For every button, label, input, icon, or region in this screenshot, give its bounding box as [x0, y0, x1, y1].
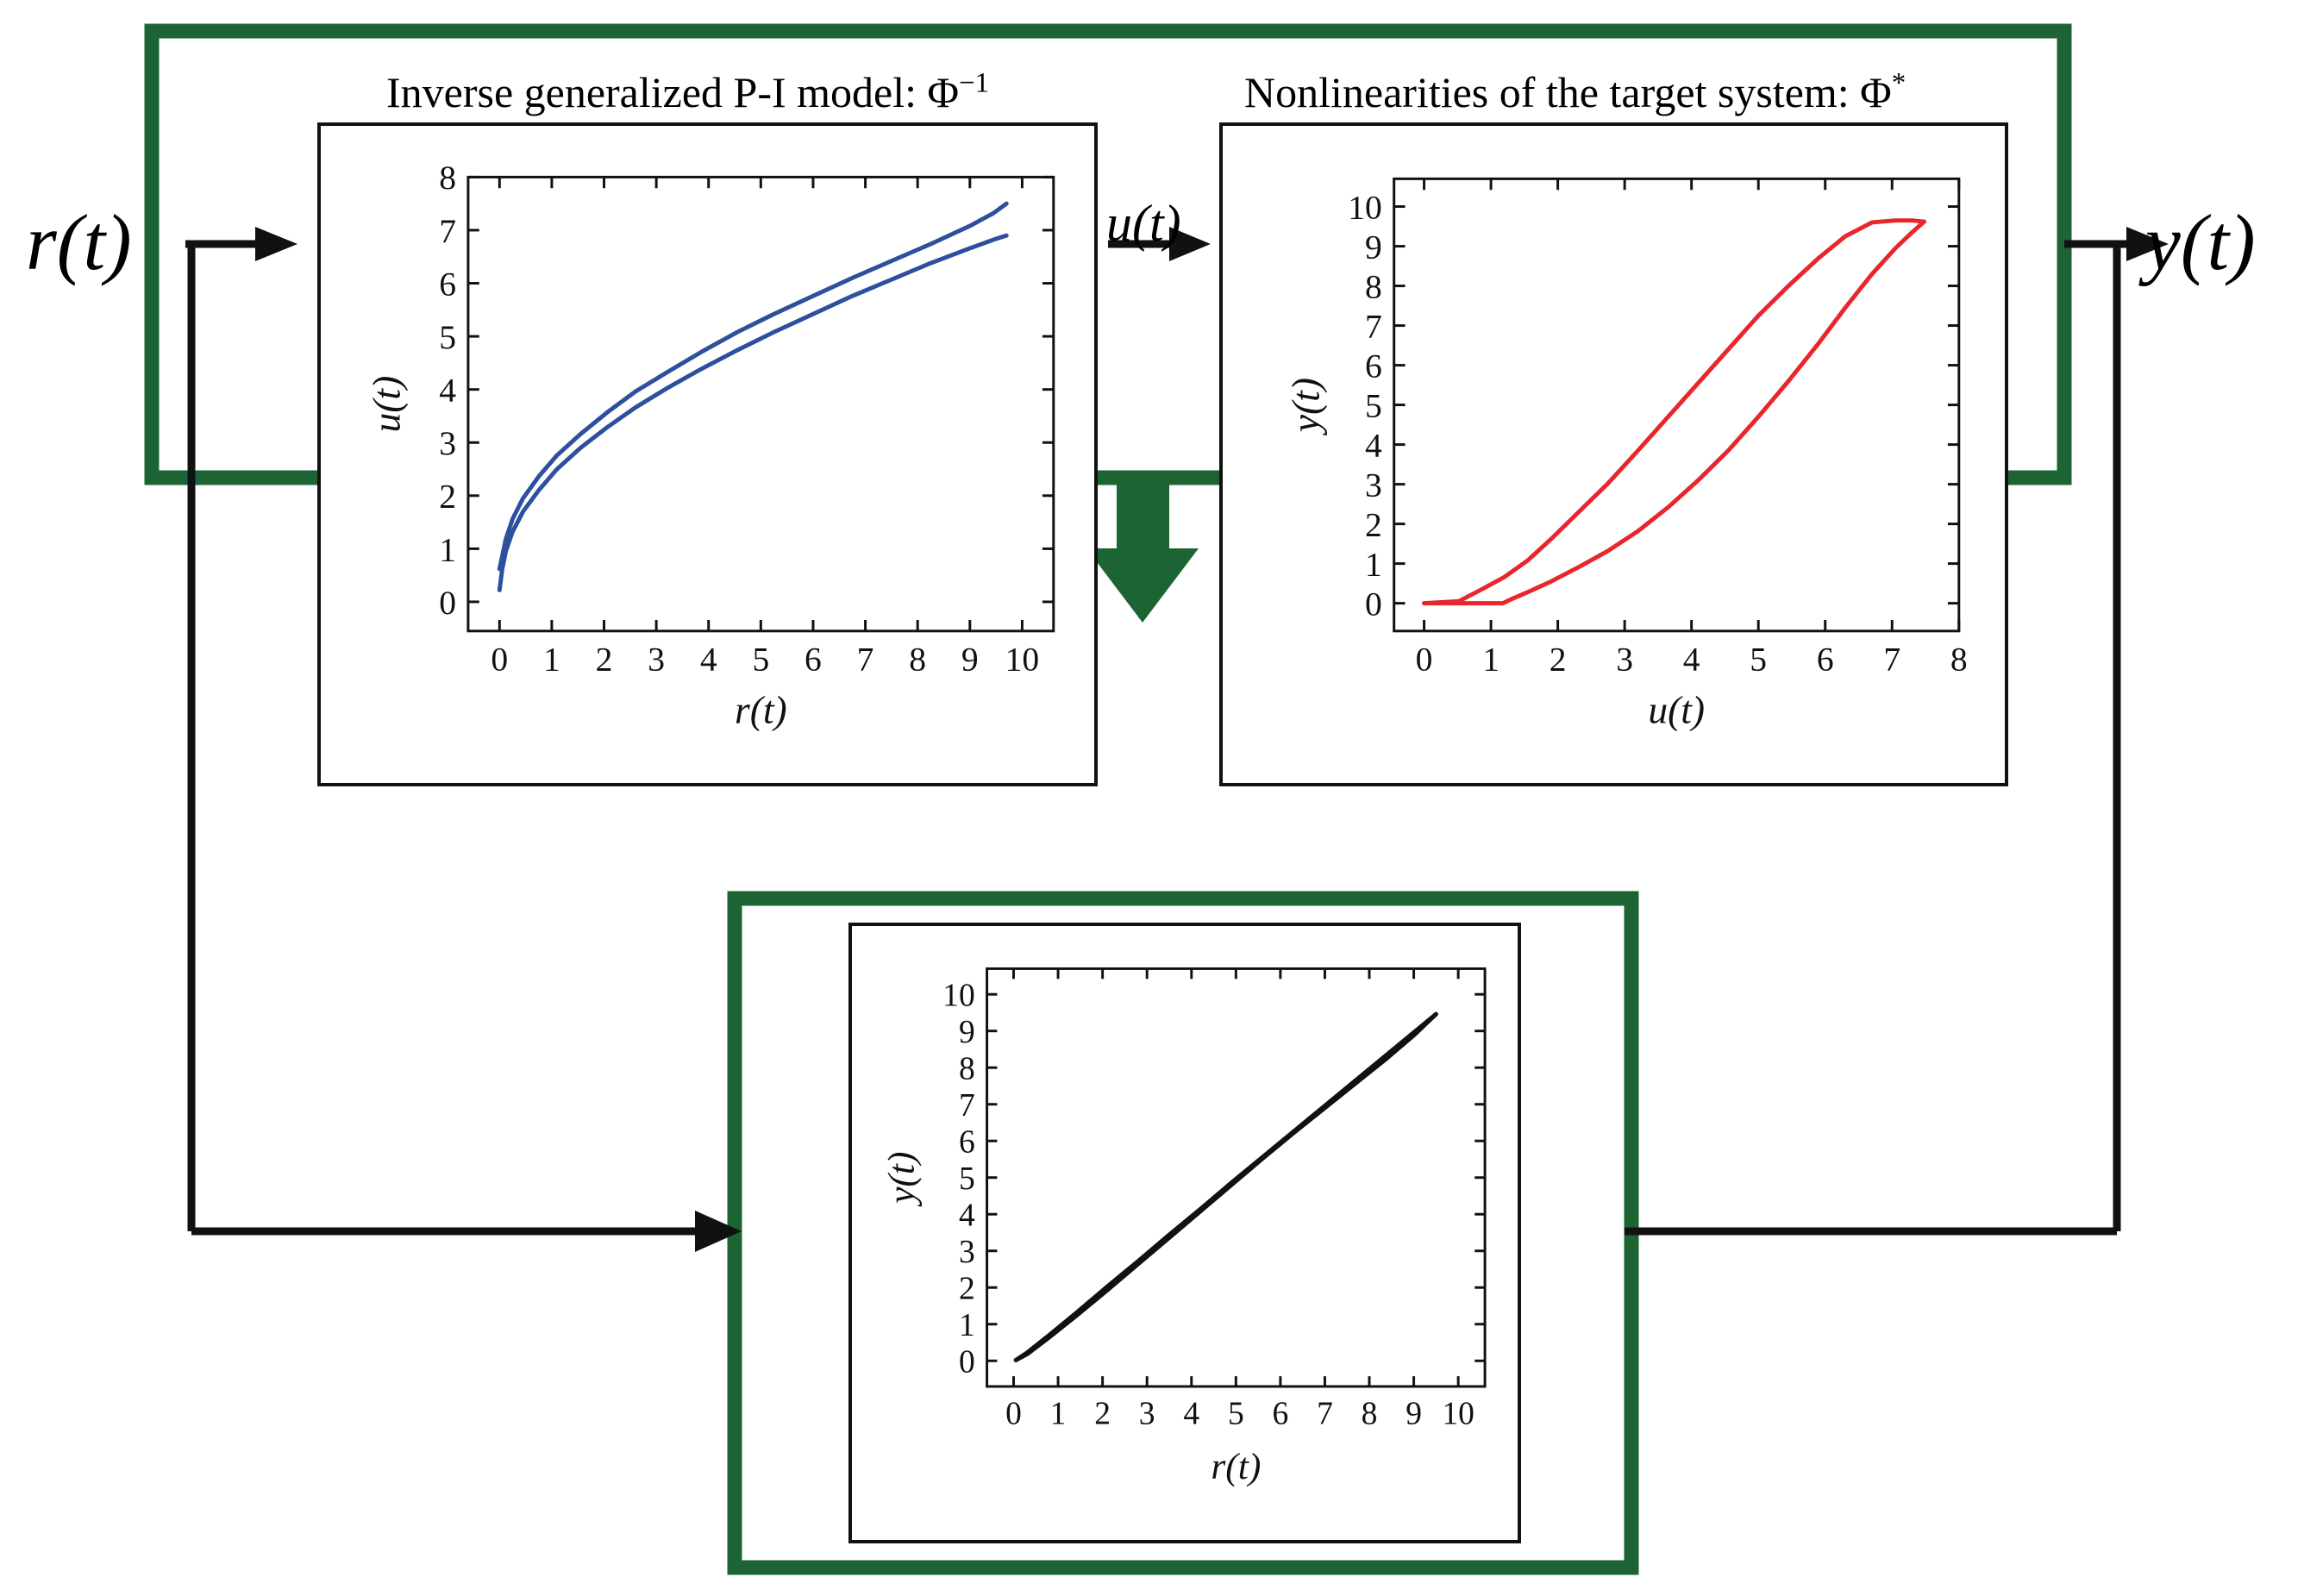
y-tick-label: 7	[1365, 307, 1382, 345]
y-tick-label: 9	[1365, 228, 1382, 266]
y-tick-label: 3	[1365, 466, 1382, 504]
x-axis-label: u(t)	[1648, 688, 1705, 732]
x-tick-label: 2	[596, 640, 613, 678]
composition-arrow-icon	[1086, 473, 1199, 623]
x-tick-label: 10	[1442, 1397, 1474, 1432]
x-tick-label: 4	[700, 640, 717, 678]
left-panel-title: Inverse generalized P-I model: Φ−1	[386, 67, 989, 117]
y-tick-label: 3	[439, 424, 456, 462]
x-tick-label: 0	[1005, 1397, 1022, 1432]
x-tick-label: 5	[752, 640, 769, 678]
x-tick-label: 5	[1750, 640, 1767, 678]
y-tick-label: 6	[439, 265, 456, 303]
x-tick-label: 8	[1950, 640, 1968, 678]
y-tick-label: 4	[959, 1198, 975, 1233]
y-tick-label: 9	[959, 1015, 975, 1050]
x-tick-label: 1	[543, 640, 560, 678]
y-tick-label: 2	[1365, 505, 1382, 543]
x-tick-label: 8	[1362, 1397, 1378, 1432]
x-tick-label: 7	[857, 640, 874, 678]
x-tick-label: 6	[1817, 640, 1834, 678]
x-tick-label: 10	[1005, 640, 1040, 678]
y-tick-label: 7	[959, 1088, 975, 1123]
input-arrowhead	[255, 227, 297, 261]
series-ascending-branch	[499, 235, 1006, 590]
y-tick-label: 1	[439, 530, 456, 568]
y-tick-label: 5	[1365, 386, 1382, 424]
diagram-canvas: Inverse generalized P-I model: Φ−1 Nonli…	[0, 0, 2304, 1596]
y-tick-label: 6	[959, 1124, 975, 1160]
y-tick-label: 3	[959, 1235, 975, 1270]
output-signal-label: y(t)	[2145, 197, 2256, 288]
y-tick-label: 2	[959, 1271, 975, 1306]
y-tick-label: 8	[439, 159, 456, 197]
x-tick-label: 2	[1094, 1397, 1111, 1432]
y-tick-label: 0	[1365, 585, 1382, 623]
x-tick-label: 3	[1139, 1397, 1155, 1432]
x-tick-label: 9	[961, 640, 979, 678]
x-axis-label: r(t)	[735, 688, 787, 732]
y-tick-label: 8	[1365, 267, 1382, 305]
x-tick-label: 8	[909, 640, 926, 678]
x-tick-label: 2	[1550, 640, 1567, 678]
x-tick-label: 4	[1683, 640, 1700, 678]
x-tick-label: 7	[1317, 1397, 1333, 1432]
y-tick-label: 10	[1348, 188, 1382, 226]
right-panel-title: Nonlinearities of the target system: Φ*	[1244, 67, 1906, 117]
y-tick-label: 0	[959, 1344, 975, 1380]
x-tick-label: 6	[805, 640, 822, 678]
x-tick-label: 4	[1183, 1397, 1199, 1432]
x-tick-label: 0	[491, 640, 508, 678]
y-tick-label: 10	[942, 978, 975, 1013]
x-tick-label: 6	[1273, 1397, 1289, 1432]
y-tick-label: 0	[439, 584, 456, 622]
x-tick-label: 3	[648, 640, 665, 678]
x-tick-label: 3	[1616, 640, 1633, 678]
x-tick-label: 7	[1883, 640, 1900, 678]
target-system-nonlinearity-chart: 012345678012345678910u(t)y(t)	[1223, 126, 2005, 783]
input-signal-label: r(t)	[26, 197, 132, 288]
y-tick-label: 1	[1365, 545, 1382, 583]
x-tick-label: 9	[1406, 1397, 1422, 1432]
y-tick-label: 2	[439, 478, 456, 516]
x-tick-label: 1	[1482, 640, 1499, 678]
compensated-response-panel: 012345678910012345678910r(t)y(t)	[848, 923, 1521, 1543]
y-axis-label: y(t)	[881, 1152, 923, 1207]
x-tick-label: 5	[1228, 1397, 1244, 1432]
y-tick-label: 4	[1365, 426, 1382, 464]
compensated-response-chart: 012345678910012345678910r(t)y(t)	[852, 926, 1518, 1540]
series-descending-branch	[1424, 221, 1925, 604]
y-tick-label: 6	[1365, 347, 1382, 385]
series-descending-branch	[499, 203, 1006, 569]
y-axis-label: y(t)	[1284, 378, 1328, 435]
y-tick-label: 4	[439, 372, 456, 410]
x-tick-label: 0	[1416, 640, 1433, 678]
y-tick-label: 7	[439, 212, 456, 250]
y-tick-label: 1	[959, 1308, 975, 1343]
y-tick-label: 5	[959, 1161, 975, 1197]
target-system-nonlinearity-panel: 012345678012345678910u(t)y(t)	[1219, 122, 2008, 786]
x-tick-label: 1	[1050, 1397, 1067, 1432]
x-axis-label: r(t)	[1211, 1446, 1261, 1487]
y-tick-label: 5	[439, 318, 456, 356]
y-axis-label: u(t)	[365, 376, 409, 433]
y-tick-label: 8	[959, 1051, 975, 1086]
intermediate-signal-label: u(t)	[1106, 194, 1181, 253]
inverse-pi-model-chart: 012345678910012345678r(t)u(t)	[321, 126, 1094, 783]
inverse-pi-model-panel: 012345678910012345678r(t)u(t)	[317, 122, 1098, 786]
